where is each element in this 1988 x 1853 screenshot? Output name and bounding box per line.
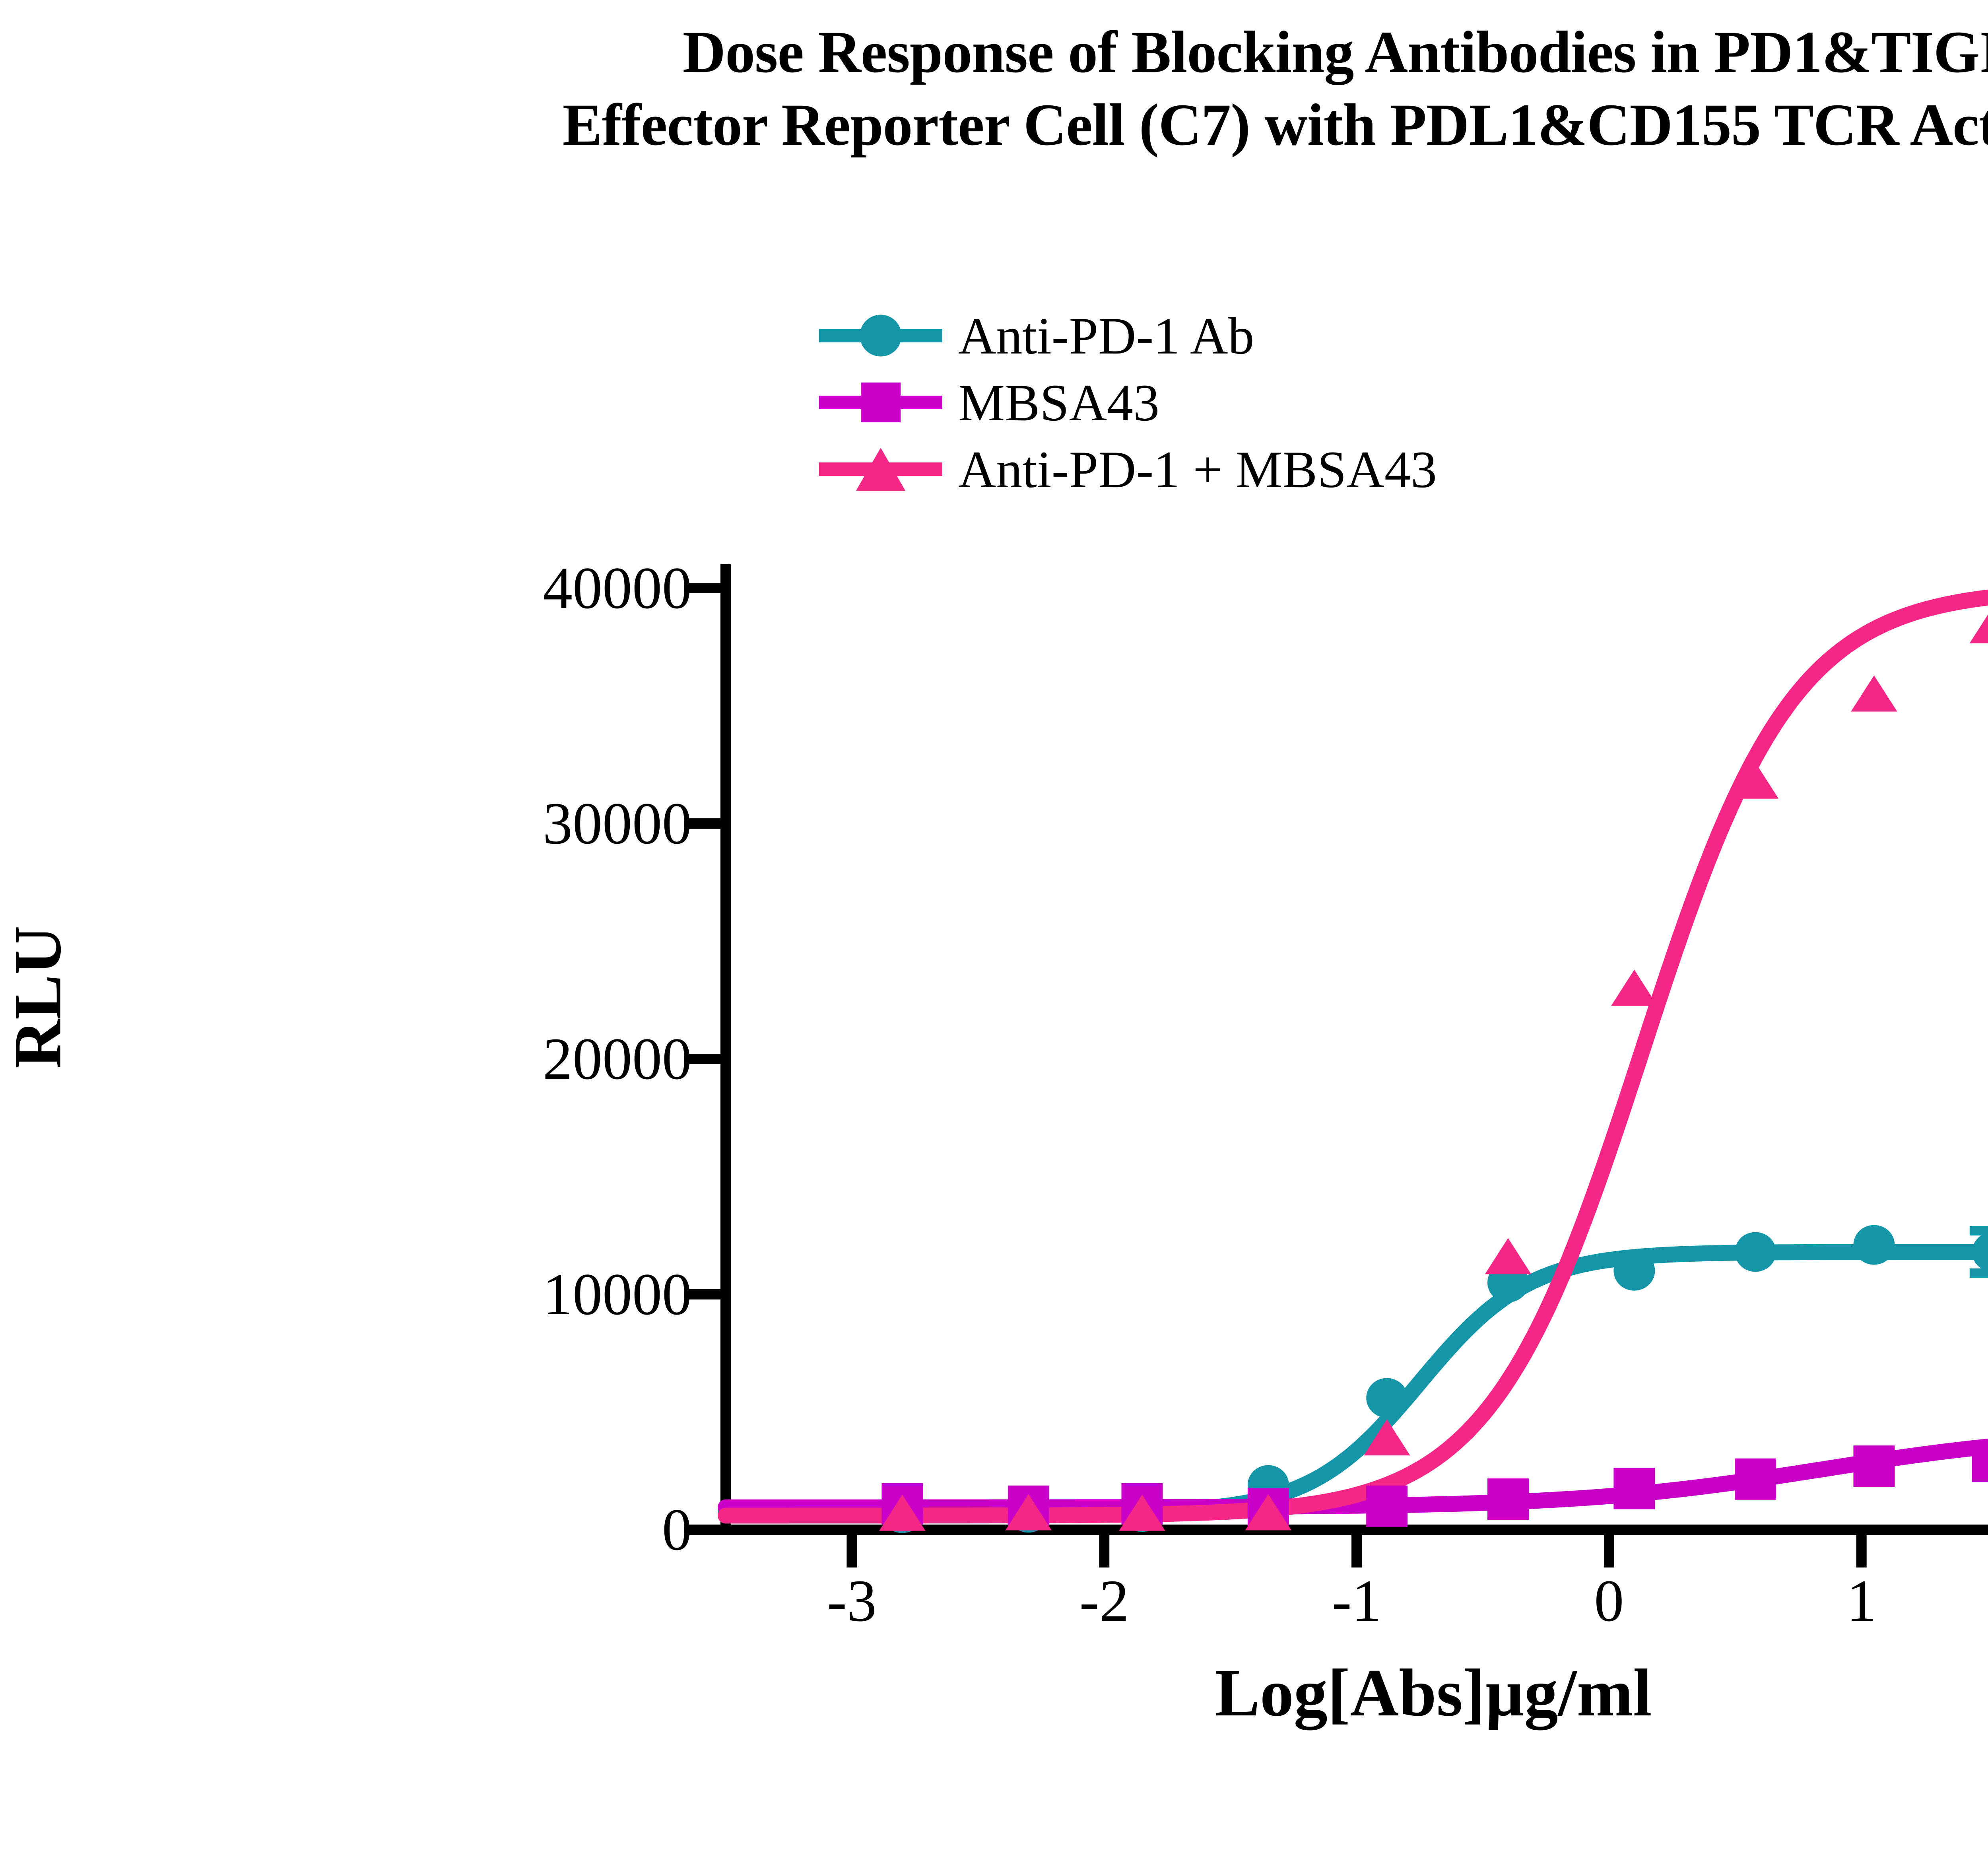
data-point-square[interactable] xyxy=(1853,1445,1895,1487)
data-point-circle[interactable] xyxy=(1366,1378,1408,1418)
data-point-circle[interactable] xyxy=(1853,1225,1895,1265)
data-point-square[interactable] xyxy=(1487,1478,1529,1520)
fit-curve-triangle xyxy=(726,589,1988,1515)
x-tick-label: -2 xyxy=(1079,1567,1129,1635)
x-tick-label: 1 xyxy=(1846,1567,1876,1635)
data-point-square[interactable] xyxy=(1366,1486,1408,1527)
data-point-square[interactable] xyxy=(1972,1441,1988,1482)
data-point-triangle[interactable] xyxy=(1851,676,1897,712)
data-point-triangle[interactable] xyxy=(1485,1238,1531,1274)
data-point-triangle[interactable] xyxy=(1611,970,1657,1006)
data-point-square[interactable] xyxy=(1735,1459,1776,1500)
x-tick-label: 0 xyxy=(1594,1567,1624,1635)
x-tick-label: -3 xyxy=(827,1567,877,1635)
plot-area xyxy=(0,0,1988,1853)
x-tick-label: -1 xyxy=(1332,1567,1382,1635)
data-point-square[interactable] xyxy=(1613,1468,1655,1509)
data-point-circle[interactable] xyxy=(1972,1232,1988,1272)
data-point-circle[interactable] xyxy=(1613,1251,1655,1291)
data-point-circle[interactable] xyxy=(1735,1232,1776,1272)
figure-root: Dose Response of Blocking Antibodies in … xyxy=(0,0,1988,1853)
data-point-triangle[interactable] xyxy=(1970,607,1988,643)
